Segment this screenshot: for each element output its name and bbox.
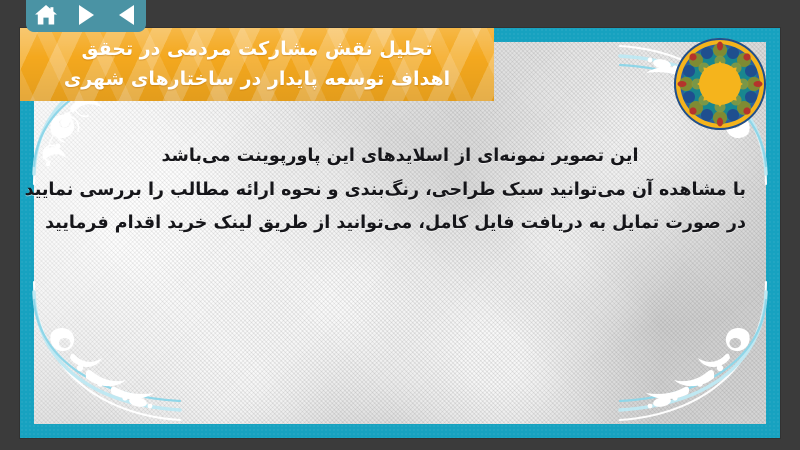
home-icon xyxy=(34,4,58,26)
body-line-2: با مشاهده آن می‌توانید سبک طراحی، رنگ‌بن… xyxy=(54,174,746,208)
triangle-right-icon xyxy=(79,5,94,25)
navigation-bar xyxy=(26,0,146,32)
body-line-3: در صورت تمایل به دریافت فایل کامل، می‌تو… xyxy=(54,207,746,241)
slide-canvas: تحلیل نقش مشارکت مردمی در تحقق اهداف توس… xyxy=(20,28,780,438)
slide-title-banner: تحلیل نقش مشارکت مردمی در تحقق اهداف توس… xyxy=(20,28,494,101)
home-button[interactable] xyxy=(31,2,61,28)
slide-title-line-2: اهداف توسعه پایدار در ساختارهای شهری xyxy=(64,65,450,94)
slide-title-line-1: تحلیل نقش مشارکت مردمی در تحقق xyxy=(82,35,433,64)
forward-button[interactable] xyxy=(71,2,101,28)
triangle-left-icon xyxy=(119,5,134,25)
body-line-1: این تصویر نمونه‌ای از اسلایدهای این پاور… xyxy=(54,140,746,174)
persian-medallion-icon xyxy=(672,36,768,132)
back-button[interactable] xyxy=(111,2,141,28)
slide-body-text: این تصویر نمونه‌ای از اسلایدهای این پاور… xyxy=(20,140,780,241)
